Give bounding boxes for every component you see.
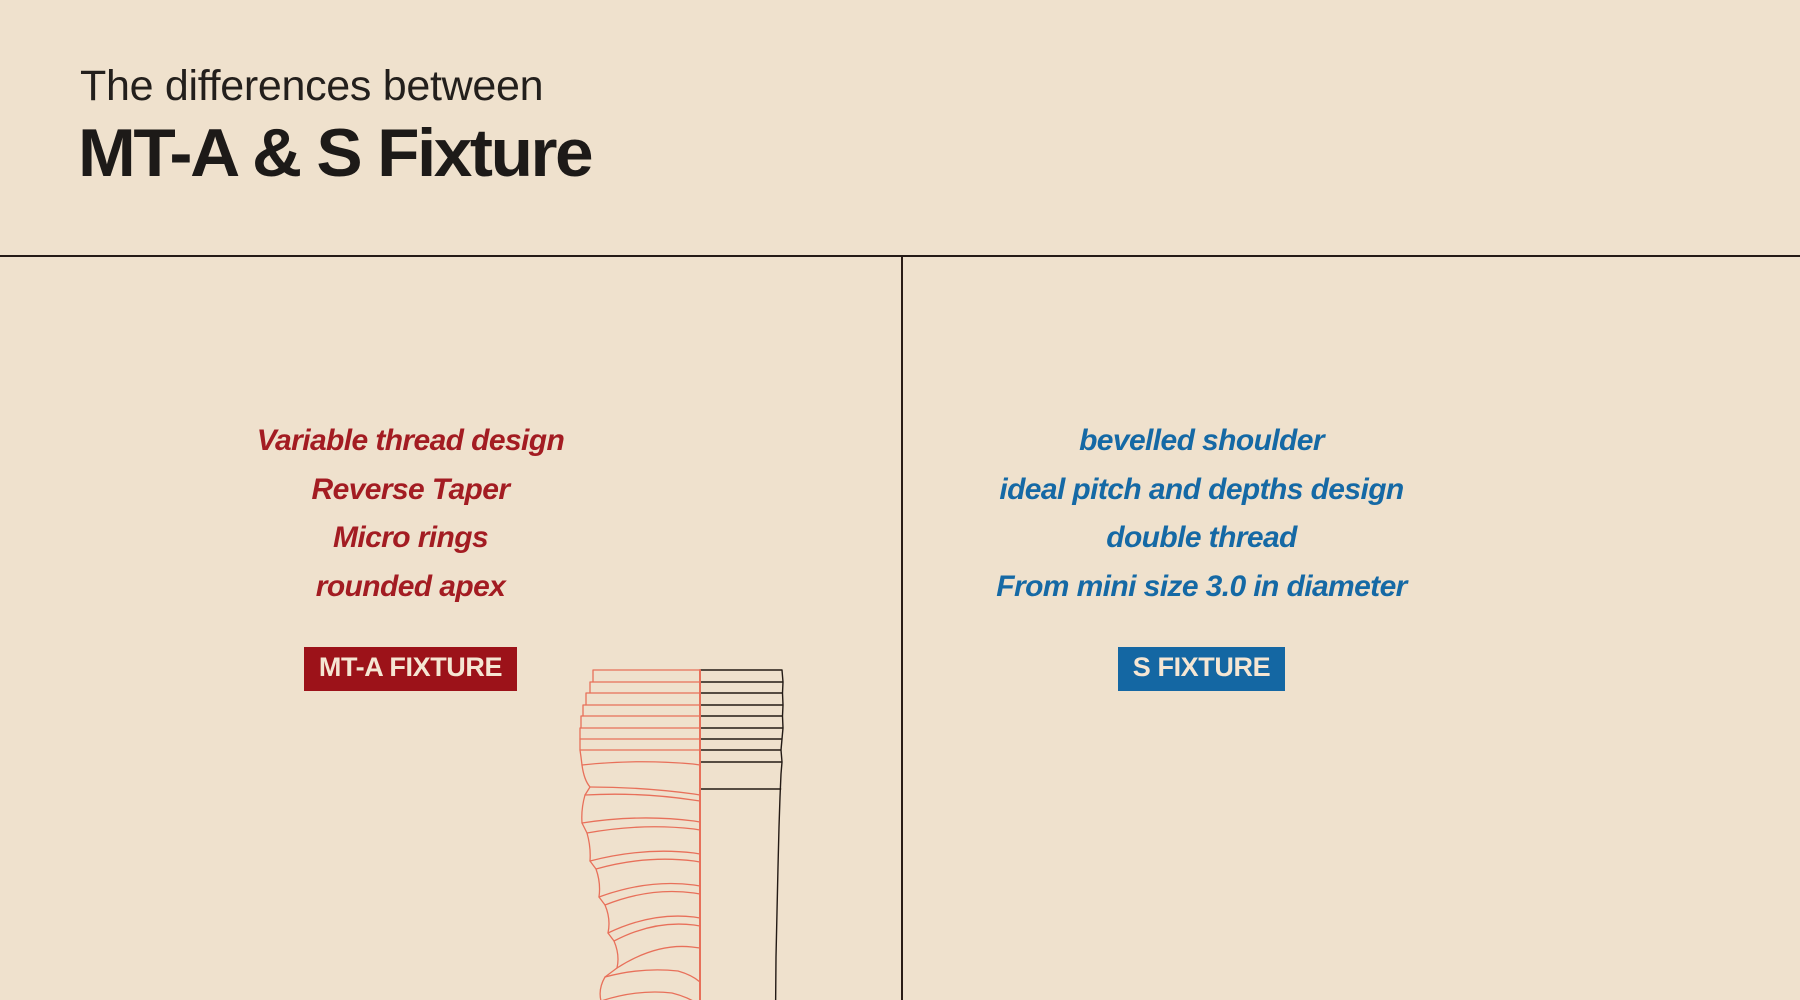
badge-container-s: S FIXTURE <box>933 647 1470 691</box>
mt-a-dark-half <box>700 670 783 1000</box>
infographic-page: The differences between MT-A & S Fixture… <box>0 0 1800 1000</box>
panel-s-fixture: bevelled shoulder ideal pitch and depths… <box>903 257 1800 1000</box>
feature-item: ideal pitch and depths design <box>933 466 1470 515</box>
feature-item: From mini size 3.0 in diameter <box>933 563 1470 612</box>
header-kicker: The differences between <box>80 62 543 111</box>
page-title: MT-A & S Fixture <box>78 116 591 191</box>
mt-a-fixture-drawing-svg <box>560 637 820 1000</box>
status-badge-s-fixture: S FIXTURE <box>1118 647 1285 691</box>
feature-item: double thread <box>933 514 1470 563</box>
mt-a-fixture-implant-diagram <box>560 637 820 1000</box>
feature-item: Micro rings <box>0 514 821 563</box>
status-badge-mt-a-fixture: MT-A FIXTURE <box>304 647 517 691</box>
panel-mt-a-fixture: Variable thread design Reverse Taper Mic… <box>0 257 901 1000</box>
feature-item: rounded apex <box>0 563 821 612</box>
feature-item: bevelled shoulder <box>933 417 1470 466</box>
feature-item: Reverse Taper <box>0 466 821 515</box>
mt-a-light-half <box>580 670 700 1000</box>
feature-item: Variable thread design <box>0 417 821 466</box>
header: The differences between MT-A & S Fixture <box>0 0 1800 255</box>
feature-list-s: bevelled shoulder ideal pitch and depths… <box>903 417 1800 691</box>
